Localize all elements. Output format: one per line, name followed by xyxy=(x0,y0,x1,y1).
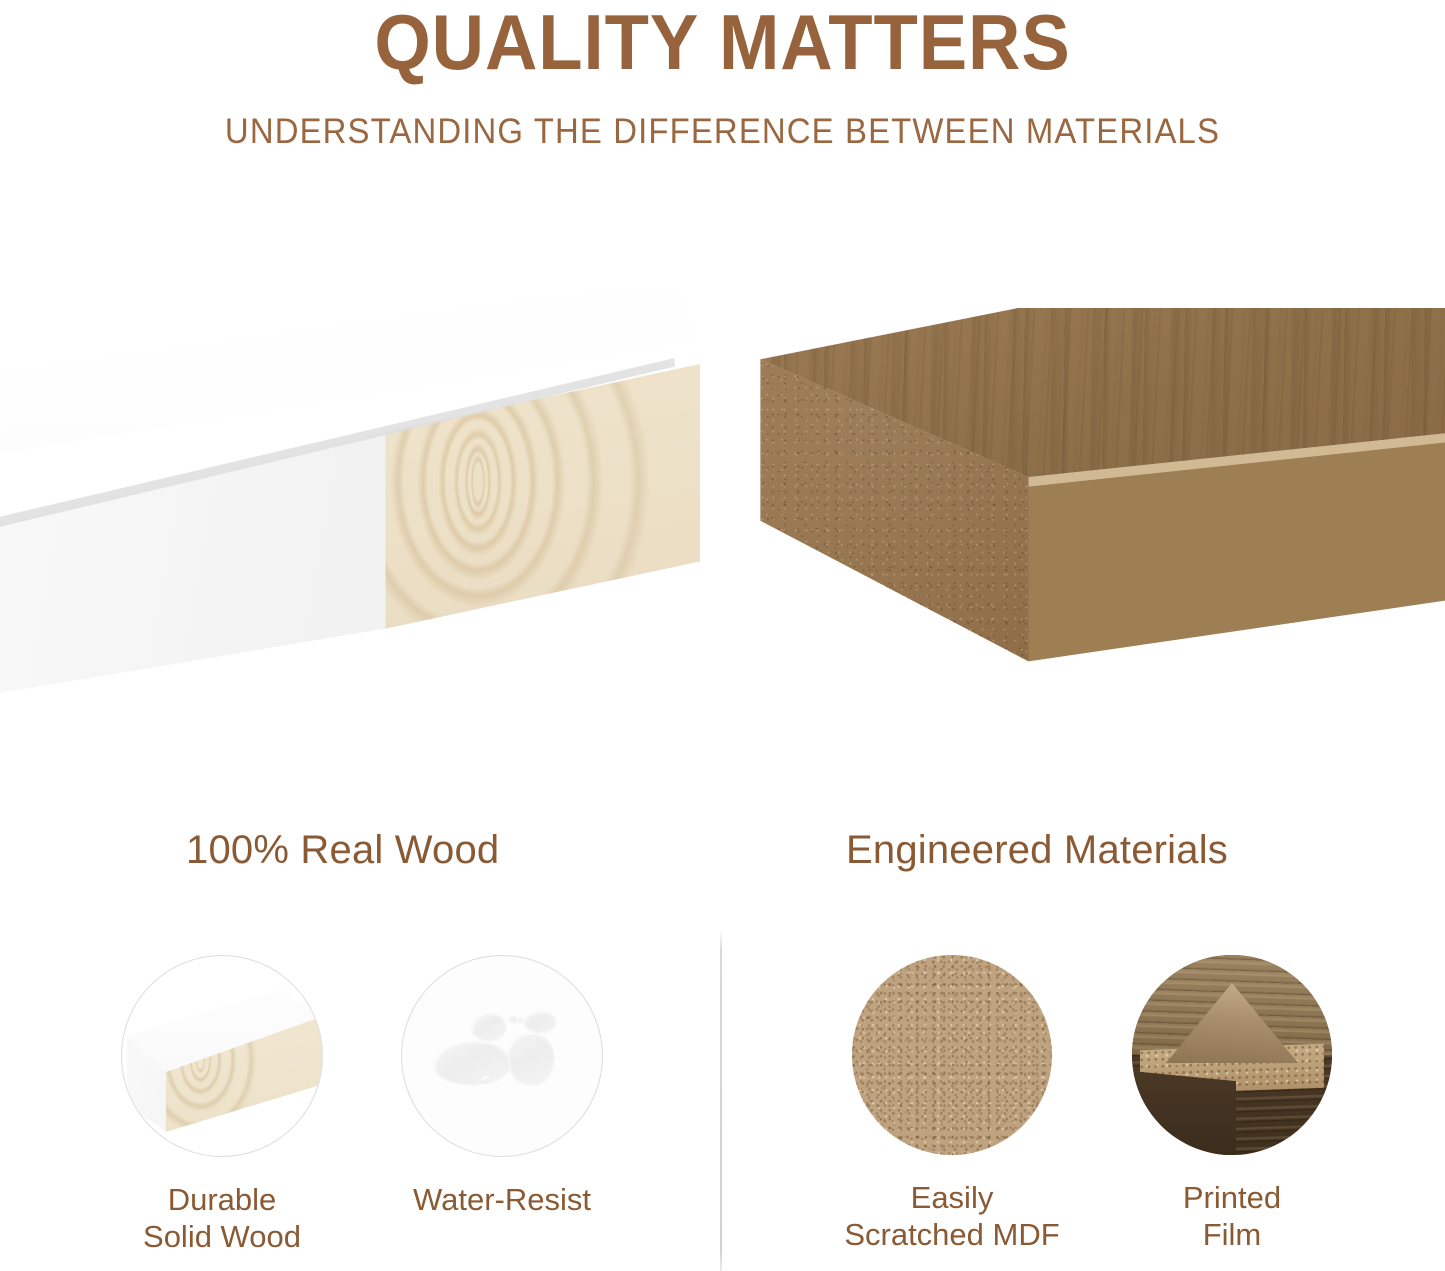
water-droplet xyxy=(508,1032,554,1084)
water-droplet xyxy=(524,1010,556,1032)
film-dark-edge xyxy=(1132,1071,1236,1155)
water-droplet xyxy=(472,1012,506,1040)
mdf-shelf-image xyxy=(745,308,1445,688)
water-droplet xyxy=(516,1016,524,1022)
feature-water-resist: Water-Resist xyxy=(387,955,617,1218)
feature-label: Easily Scratched MDF xyxy=(837,1179,1067,1253)
mdf-particle-texture-icon xyxy=(852,955,1052,1155)
water-droplets-icon xyxy=(401,955,603,1157)
feature-durable-solid-wood: Durable Solid Wood xyxy=(107,955,337,1255)
header: QUALITY MATTERS UNDERSTANDING THE DIFFER… xyxy=(0,0,1445,190)
column-heading-real-wood: 100% Real Wood xyxy=(186,828,499,873)
feature-label: Durable Solid Wood xyxy=(107,1181,337,1255)
peeling-printed-film-icon xyxy=(1132,955,1332,1155)
solid-wood-shelf-image xyxy=(0,280,720,700)
water-droplet xyxy=(482,1076,490,1082)
feature-label: Printed Film xyxy=(1117,1179,1347,1253)
hero-product-comparison xyxy=(0,200,1445,790)
feature-printed-film: Printed Film xyxy=(1117,955,1347,1253)
feature-easily-scratched-mdf: Easily Scratched MDF xyxy=(837,955,1067,1253)
page-title: QUALITY MATTERS xyxy=(51,2,1395,82)
water-droplet xyxy=(434,1040,510,1084)
column-heading-engineered-materials: Engineered Materials xyxy=(846,828,1228,873)
solid-wood-shelf-icon xyxy=(121,955,323,1157)
page-subtitle: UNDERSTANDING THE DIFFERENCE BETWEEN MAT… xyxy=(43,112,1401,152)
feature-label: Water-Resist xyxy=(387,1181,617,1218)
column-divider xyxy=(720,930,722,1271)
